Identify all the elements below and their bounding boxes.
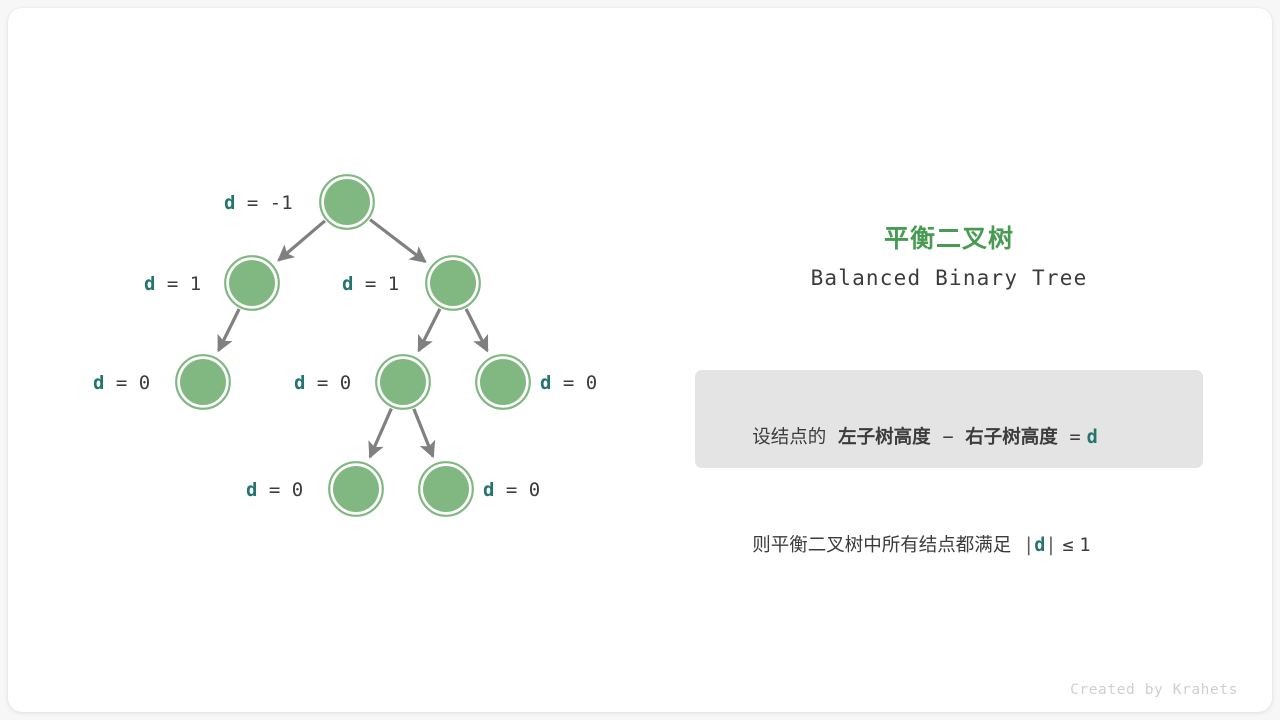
node-label-value: = 0	[104, 372, 150, 394]
node-fill	[380, 359, 426, 405]
credit-footer: Created by Krahets	[1070, 682, 1238, 698]
info-l2-value: 1	[1079, 535, 1090, 556]
tree-edge	[279, 221, 325, 260]
tree-node	[320, 175, 374, 229]
tree-edge	[466, 309, 487, 351]
node-fill	[430, 260, 476, 306]
node-label-value: = 0	[551, 372, 597, 394]
node-fill	[480, 359, 526, 405]
diagram-canvas: d = -1d = 1d = 1d = 0d = 0d = 0d = 0d = …	[0, 0, 1280, 720]
tree-edge	[419, 309, 440, 351]
node-label-variable: d	[483, 479, 494, 501]
info-l1-left-height: 左子树高度	[838, 427, 931, 448]
binary-tree-graphic	[0, 0, 1280, 720]
tree-edge	[219, 309, 240, 351]
node-label-variable: d	[246, 479, 257, 501]
node-balance-label: d = -1	[224, 192, 293, 214]
tree-edge	[370, 409, 391, 457]
tree-edges	[219, 220, 488, 457]
definition-info-box: 设结点的 左子树高度 − 右子树高度 = d 则平衡二叉树中所有结点都满足 |d…	[695, 370, 1203, 468]
node-label-value: = 1	[353, 273, 399, 295]
tree-node	[225, 256, 279, 310]
node-balance-label: d = 0	[540, 372, 597, 394]
node-balance-label: d = 0	[294, 372, 351, 394]
info-l2-part1: 则平衡二叉树中所有结点都满足	[752, 535, 1011, 556]
tree-node	[176, 355, 230, 409]
node-fill	[229, 260, 275, 306]
info-l2-bar-open: |	[1023, 535, 1034, 556]
tree-nodes	[176, 175, 530, 516]
info-l1-equals: =	[1070, 427, 1081, 448]
tree-edge	[414, 409, 433, 457]
tree-edge	[370, 220, 425, 262]
node-label-variable: d	[144, 273, 155, 295]
tree-node	[426, 256, 480, 310]
node-label-variable: d	[93, 372, 104, 394]
page-title-en: Balanced Binary Tree	[693, 261, 1205, 295]
tree-node	[419, 462, 473, 516]
info-line-1: 设结点的 左子树高度 − 右子树高度 = d	[717, 384, 1181, 492]
title-panel: 平衡二叉树 Balanced Binary Tree	[693, 222, 1205, 295]
node-label-variable: d	[224, 192, 235, 214]
info-line-2: 则平衡二叉树中所有结点都满足 |d| ≤ 1	[717, 492, 1181, 600]
info-l1-part1: 设结点的	[752, 427, 826, 448]
node-label-value: = 0	[305, 372, 351, 394]
node-label-variable: d	[342, 273, 353, 295]
node-balance-label: d = 0	[93, 372, 150, 394]
node-balance-label: d = 1	[342, 273, 399, 295]
node-fill	[333, 466, 379, 512]
tree-node	[376, 355, 430, 409]
info-l1-variable-d: d	[1087, 427, 1098, 448]
info-l1-minus: −	[942, 427, 953, 448]
info-l2-operator: ≤	[1062, 535, 1073, 556]
info-l2-variable-d: d	[1034, 535, 1045, 556]
tree-node	[476, 355, 530, 409]
node-fill	[423, 466, 469, 512]
info-l2-bar-close: |	[1045, 535, 1056, 556]
info-l1-right-height: 右子树高度	[965, 427, 1058, 448]
node-fill	[324, 179, 370, 225]
node-balance-label: d = 1	[144, 273, 201, 295]
page-title-cn: 平衡二叉树	[693, 222, 1205, 256]
node-balance-label: d = 0	[246, 479, 303, 501]
tree-node	[329, 462, 383, 516]
node-label-value: = 1	[155, 273, 201, 295]
node-label-value: = 0	[257, 479, 303, 501]
node-fill	[180, 359, 226, 405]
node-label-value: = 0	[494, 479, 540, 501]
node-label-variable: d	[294, 372, 305, 394]
node-label-value: = -1	[235, 192, 292, 214]
node-label-variable: d	[540, 372, 551, 394]
node-balance-label: d = 0	[483, 479, 540, 501]
